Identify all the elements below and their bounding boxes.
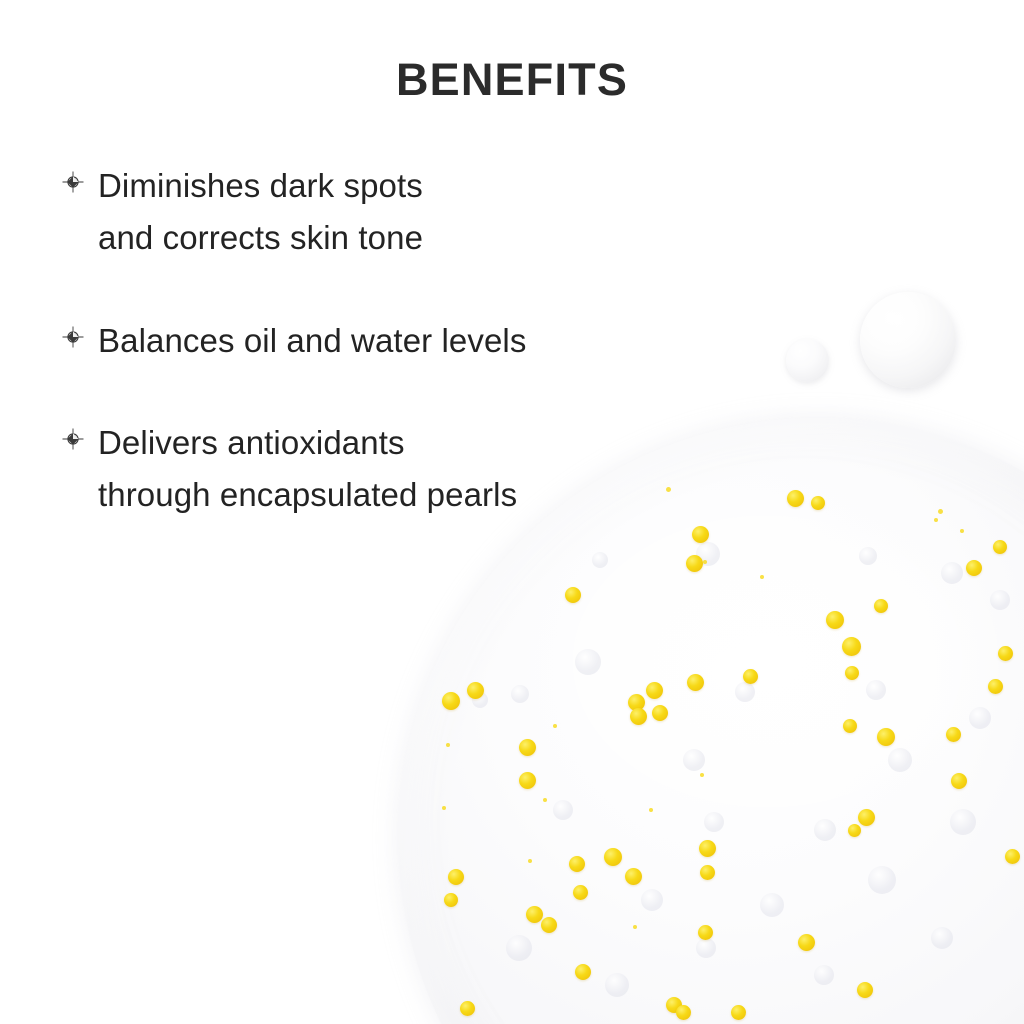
vitamin-pearl	[951, 773, 967, 789]
pearl-speck	[543, 798, 547, 802]
vitamin-pearl	[698, 925, 713, 940]
gel-bubble	[859, 547, 877, 565]
gel-bubble	[941, 562, 963, 584]
vitamin-pearl	[877, 728, 895, 746]
vitamin-pearl	[699, 840, 716, 857]
diamond-crosshair-icon	[62, 428, 84, 450]
pearl-speck	[446, 743, 450, 747]
gel-bubble	[950, 809, 976, 835]
vitamin-pearl	[687, 674, 704, 691]
vitamin-pearl	[604, 848, 622, 866]
vitamin-pearl	[787, 490, 804, 507]
vitamin-pearl	[448, 869, 464, 885]
vitamin-pearl	[843, 719, 857, 733]
pearl-speck	[760, 575, 764, 579]
vitamin-pearl	[652, 705, 668, 721]
vitamin-pearl	[442, 692, 460, 710]
vitamin-pearl	[731, 1005, 746, 1020]
page-title: BENEFITS	[0, 56, 1024, 103]
benefit-item: Diminishes dark spots and corrects skin …	[62, 160, 762, 264]
vitamin-pearl	[1005, 849, 1020, 864]
benefit-item: Balances oil and water levels	[62, 315, 762, 367]
vitamin-pearl	[988, 679, 1003, 694]
vitamin-pearl	[743, 669, 758, 684]
gel-bubble	[704, 812, 724, 832]
gel-bubble	[814, 965, 834, 985]
vitamin-pearl	[630, 708, 647, 725]
pearl-droplet-small	[786, 339, 829, 382]
gel-bubble	[553, 800, 573, 820]
pearl-droplet-large	[860, 292, 956, 388]
pearl-speck	[700, 773, 704, 777]
vitamin-pearl	[460, 1001, 475, 1016]
vitamin-pearl	[998, 646, 1013, 661]
vitamin-pearl	[569, 856, 585, 872]
benefit-item: Delivers antioxidants through encapsulat…	[62, 417, 762, 521]
pearl-speck	[528, 859, 532, 863]
benefits-list: Diminishes dark spots and corrects skin …	[62, 160, 762, 572]
vitamin-pearl	[573, 885, 588, 900]
vitamin-pearl	[811, 496, 825, 510]
pearl-speck	[960, 529, 964, 533]
gel-bubble	[888, 748, 912, 772]
vitamin-pearl	[575, 964, 591, 980]
pearl-speck	[938, 509, 943, 514]
vitamin-pearl	[467, 682, 484, 699]
gel-bubble	[575, 649, 601, 675]
vitamin-pearl	[676, 1005, 691, 1020]
gel-bubble	[868, 866, 896, 894]
vitamin-pearl	[826, 611, 844, 629]
benefit-text: Diminishes dark spots and corrects skin …	[98, 160, 423, 264]
vitamin-pearl	[966, 560, 982, 576]
vitamin-pearl	[519, 739, 536, 756]
vitamin-pearl	[842, 637, 861, 656]
vitamin-pearl	[798, 934, 815, 951]
pearl-speck	[934, 518, 938, 522]
gel-bubble	[931, 927, 953, 949]
vitamin-pearl	[565, 587, 581, 603]
vitamin-pearl	[519, 772, 536, 789]
benefits-infographic: BENEFITS Diminishes dark spots and corre…	[0, 0, 1024, 1024]
vitamin-pearl	[700, 865, 715, 880]
vitamin-pearl	[858, 809, 875, 826]
diamond-crosshair-icon	[62, 326, 84, 348]
gel-bubble	[814, 819, 836, 841]
gel-bubble	[990, 590, 1010, 610]
vitamin-pearl	[526, 906, 543, 923]
vitamin-pearl	[874, 599, 888, 613]
gel-bubble	[506, 935, 532, 961]
vitamin-pearl	[625, 868, 642, 885]
vitamin-pearl	[646, 682, 663, 699]
gel-bubble	[969, 707, 991, 729]
vitamin-pearl	[946, 727, 961, 742]
pearl-speck	[442, 806, 446, 810]
benefit-text: Delivers antioxidants through encapsulat…	[98, 417, 517, 521]
vitamin-pearl	[541, 917, 557, 933]
gel-bubble	[683, 749, 705, 771]
gel-bubble	[866, 680, 886, 700]
vitamin-pearl	[857, 982, 873, 998]
vitamin-pearl	[993, 540, 1007, 554]
gel-bubble	[641, 889, 663, 911]
gel-bubble	[760, 893, 784, 917]
pearl-speck	[649, 808, 653, 812]
gel-bubble	[696, 938, 716, 958]
gel-bubble	[605, 973, 629, 997]
pearl-speck	[553, 724, 557, 728]
diamond-crosshair-icon	[62, 171, 84, 193]
benefit-text: Balances oil and water levels	[98, 315, 526, 367]
gel-bubble	[511, 685, 529, 703]
pearl-speck	[633, 925, 637, 929]
vitamin-pearl	[444, 893, 458, 907]
vitamin-pearl	[848, 824, 861, 837]
vitamin-pearl	[845, 666, 859, 680]
gel-bubble	[735, 682, 755, 702]
